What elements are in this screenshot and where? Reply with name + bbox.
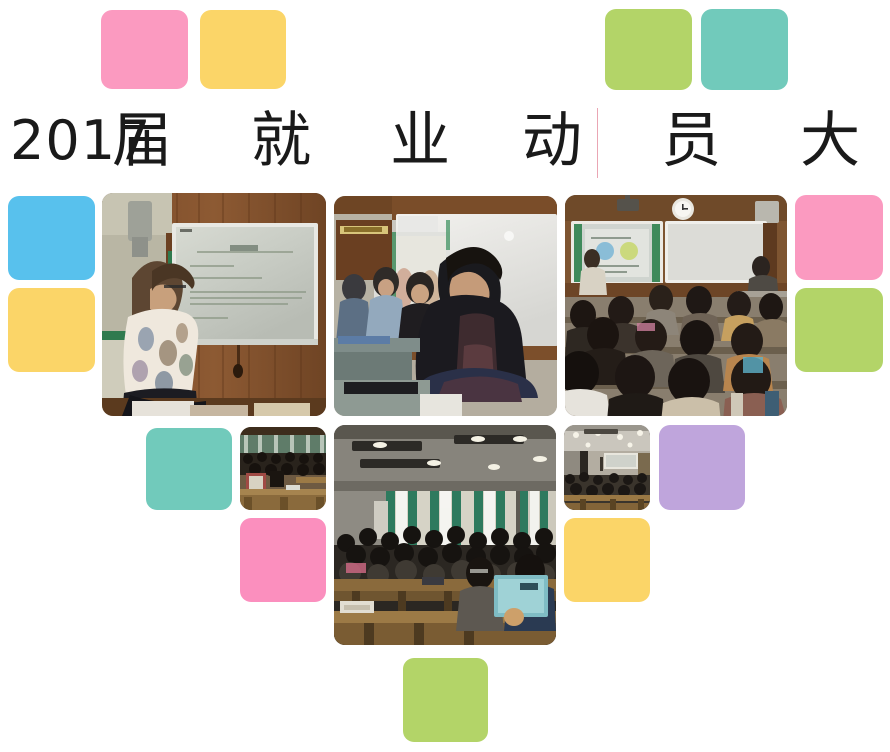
tile-bottom-green xyxy=(403,658,488,742)
tile-left-blue xyxy=(8,196,95,280)
title-chinese-left: 届 就 业 xyxy=(112,100,480,182)
tile-top-green xyxy=(605,9,692,90)
tile-mid-teal xyxy=(146,428,232,510)
tile-top-teal xyxy=(701,9,788,90)
photo-small-lecture-hall xyxy=(564,425,650,510)
photo-small-classroom-rear xyxy=(240,427,326,510)
photo-large-auditorium xyxy=(334,425,556,645)
tile-top-yellow xyxy=(200,10,286,89)
photo-speaker-at-whiteboard xyxy=(102,193,326,416)
title-divider xyxy=(597,108,598,178)
page-title: 2017 届 就 业 动 员 大 会 xyxy=(0,100,890,182)
tile-mid-pink xyxy=(240,518,326,602)
tile-right-pink xyxy=(795,195,883,280)
poster-canvas: 2017 届 就 业 动 员 大 会 xyxy=(0,0,890,752)
tile-mid-purple xyxy=(659,425,745,510)
tile-right-green xyxy=(795,288,883,372)
tile-mid-yellow xyxy=(564,518,650,602)
tile-top-pink xyxy=(101,10,188,89)
title-chinese-right: 动 员 大 会 xyxy=(522,100,890,182)
photo-speaker-at-podium xyxy=(334,196,557,416)
photo-classroom-audience xyxy=(565,195,787,416)
tile-left-yellow xyxy=(8,288,95,372)
